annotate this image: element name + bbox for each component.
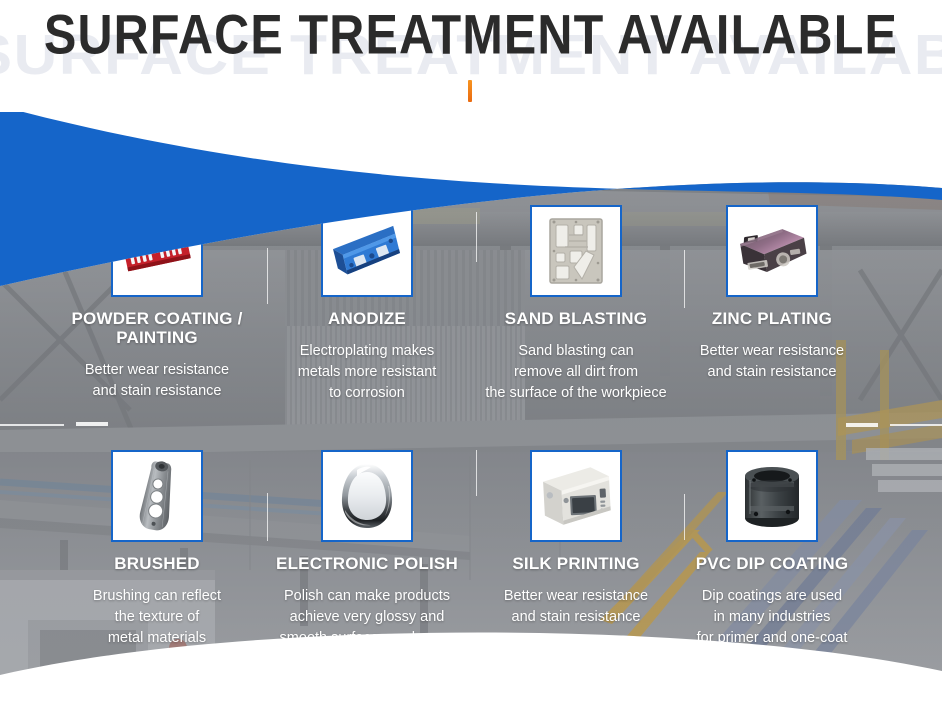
surface-treatment-infographic: SURFACE TREATMENT AVAILABLE SURFACE TREA…: [0, 0, 942, 715]
pvc-dip-coated-flanged-bushing-image: [726, 450, 818, 542]
treatment-title: PVC DIP COATING: [667, 554, 877, 573]
treatment-title: ELECTRONIC POLISH: [262, 554, 472, 573]
treatment-grid: POWDER COATING / PAINTING Better wear re…: [0, 100, 942, 715]
treatment-item-sand-blasting[interactable]: SAND BLASTING Sand blasting can remove a…: [471, 205, 681, 404]
treatment-item-brushed[interactable]: BRUSHED Brushing can reflect the texture…: [52, 450, 262, 649]
powder-coated-red-slotted-plate-image: [111, 205, 203, 297]
treatment-item-powder-coating[interactable]: POWDER COATING / PAINTING Better wear re…: [52, 205, 262, 402]
blue-anodized-angle-bracket-image: [321, 205, 413, 297]
row-divider-line-right: [890, 424, 942, 426]
page-title: SURFACE TREATMENT AVAILABLE: [14, 2, 928, 67]
row-divider-line-left: [0, 424, 64, 426]
title-accent-rule: [468, 80, 472, 102]
treatment-description: Electroplating makes metals more resista…: [262, 341, 472, 404]
treatment-description: Sand blasting can remove all dirt from t…: [471, 341, 681, 404]
column-separator-5: [476, 450, 477, 496]
row-divider-dash-right: [846, 423, 878, 427]
treatment-description: Better wear resistance and stain resista…: [667, 341, 877, 383]
treatment-title: POWDER COATING / PAINTING: [52, 309, 262, 347]
silk-printed-instrument-enclosure-image: [530, 450, 622, 542]
polished-chrome-oval-ring-image: [321, 450, 413, 542]
treatment-item-electronic-polish[interactable]: ELECTRONIC POLISH Polish can make produc…: [262, 450, 472, 649]
treatment-item-silk-printing[interactable]: SILK PRINTING Better wear resistance and…: [471, 450, 681, 628]
header-band: SURFACE TREATMENT AVAILABLE SURFACE TREA…: [0, 0, 942, 112]
zinc-plated-sheet-metal-chassis-image: [726, 205, 818, 297]
column-separator-1: [267, 248, 268, 304]
treatment-description: Better wear resistance and stain resista…: [471, 586, 681, 628]
treatment-item-anodize[interactable]: ANODIZE Electroplating makes metals more…: [262, 205, 472, 404]
treatment-title: BRUSHED: [52, 554, 262, 573]
sand-blasted-machined-plate-image: [530, 205, 622, 297]
column-separator-6: [684, 494, 685, 540]
column-separator-4: [267, 493, 268, 541]
treatment-title: SAND BLASTING: [471, 309, 681, 328]
treatment-description: Brushing can reflect the texture of meta…: [52, 586, 262, 649]
treatment-description: Dip coatings are used in many industries…: [667, 586, 877, 670]
treatment-item-pvc-dip-coating[interactable]: PVC DIP COATING Dip coatings are used in…: [667, 450, 877, 670]
treatment-title: ANODIZE: [262, 309, 472, 328]
treatment-description: Polish can make products achieve very gl…: [262, 586, 472, 649]
treatment-item-zinc-plating[interactable]: ZINC PLATING Better wear resistance and …: [667, 205, 877, 383]
column-separator-2: [476, 212, 477, 262]
treatment-description: Better wear resistance and stain resista…: [52, 360, 262, 402]
treatment-title: ZINC PLATING: [667, 309, 877, 328]
treatment-title: SILK PRINTING: [471, 554, 681, 573]
row-divider-dash-left: [76, 422, 108, 426]
column-separator-3: [684, 250, 685, 308]
brushed-metal-perforated-link-image: [111, 450, 203, 542]
